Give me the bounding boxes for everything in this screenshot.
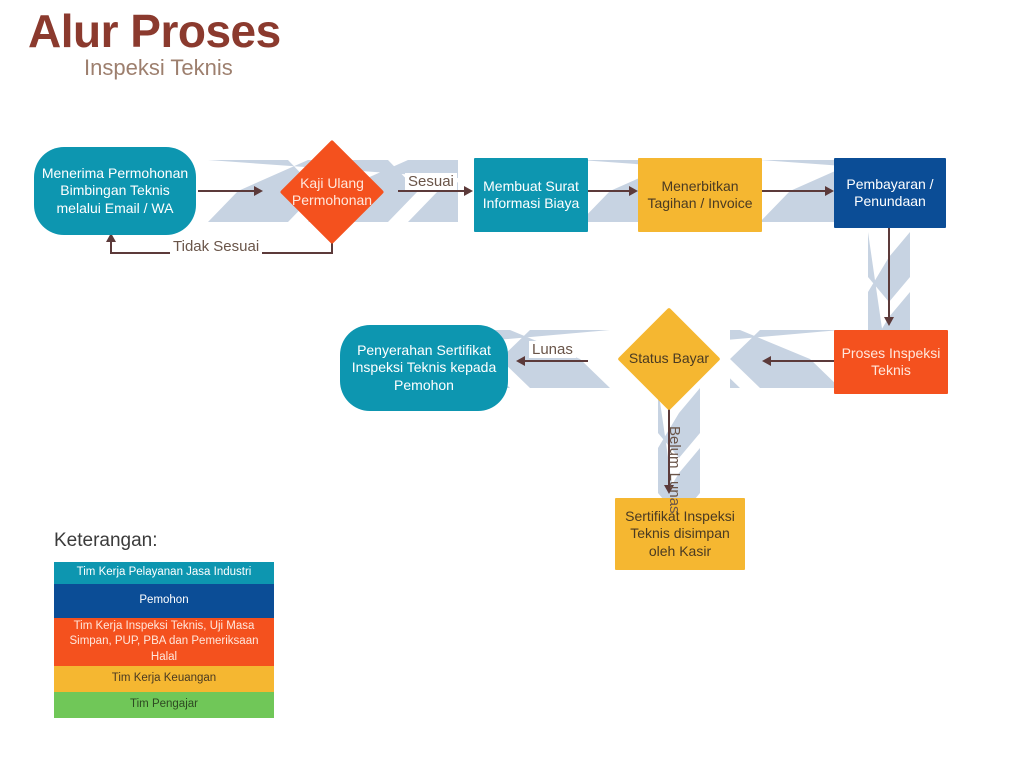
connector-n6-n7 xyxy=(768,360,834,362)
arrowhead-n6-n7 xyxy=(762,356,771,366)
legend-row-label: Tim Pengajar xyxy=(130,697,198,713)
legend: Keterangan: Tim Kerja Pelayanan Jasa Ind… xyxy=(54,530,274,718)
connector-n3-n4 xyxy=(588,190,632,192)
node-proses-inspeksi-teknis[interactable]: Proses Inspeksi Teknis xyxy=(834,330,948,394)
arrowhead-n2-n3 xyxy=(464,186,473,196)
edge-label-belum-lunas: Belum Lunas xyxy=(666,423,683,517)
legend-title: Keterangan: xyxy=(54,530,274,552)
node-label: Status Bayar xyxy=(587,350,751,367)
arrowhead-n3-n4 xyxy=(629,186,638,196)
legend-row-label: Tim Kerja Keuangan xyxy=(112,671,216,687)
node-label: Membuat Surat Informasi Biaya xyxy=(474,178,588,212)
connector-n5-n6 xyxy=(888,228,890,320)
legend-row-label: Pemohon xyxy=(139,593,188,609)
edge-label-sesuai: Sesuai xyxy=(405,173,457,190)
legend-row-label: Tim Kerja Inspeksi Teknis, Uji Masa Simp… xyxy=(58,619,270,666)
page-title: Alur Proses xyxy=(28,4,281,58)
edge-label-tidak-sesuai: Tidak Sesuai xyxy=(170,238,262,255)
arrowhead-n4-n5 xyxy=(825,186,834,196)
node-label: Kaji Ulang Permohonan xyxy=(258,175,406,209)
arrowhead-n7-n8 xyxy=(516,356,525,366)
connector-n1-n2 xyxy=(198,190,256,192)
node-menerima-permohonan[interactable]: Menerima Permohonan Bimbingan Teknis mel… xyxy=(34,147,196,235)
node-pembayaran-penundaan[interactable]: Pembayaran / Penundaan xyxy=(834,158,946,228)
legend-row: Tim Pengajar xyxy=(54,692,274,718)
node-label: Pembayaran / Penundaan xyxy=(834,176,946,210)
connector-n2-n3 xyxy=(398,190,468,192)
header: Alur Proses Inspeksi Teknis xyxy=(0,0,1024,100)
node-label: Menerima Permohonan Bimbingan Teknis mel… xyxy=(34,165,196,216)
node-label: Menerbitkan Tagihan / Invoice xyxy=(638,178,762,212)
node-kaji-ulang-permohonan[interactable]: Kaji Ulang Permohonan xyxy=(258,145,406,239)
node-membuat-surat-informasi-biaya[interactable]: Membuat Surat Informasi Biaya xyxy=(474,158,588,232)
legend-row: Tim Kerja Inspeksi Teknis, Uji Masa Simp… xyxy=(54,618,274,666)
legend-row: Pemohon xyxy=(54,584,274,618)
node-label: Proses Inspeksi Teknis xyxy=(834,345,948,379)
legend-row-label: Tim Kerja Pelayanan Jasa Industri xyxy=(77,565,252,581)
legend-row: Tim Kerja Keuangan xyxy=(54,666,274,692)
node-label: Penyerahan Sertifikat Inspeksi Teknis ke… xyxy=(340,342,508,393)
page-subtitle: Inspeksi Teknis xyxy=(84,55,233,81)
node-status-bayar[interactable]: Status Bayar xyxy=(587,312,751,406)
node-menerbitkan-tagihan-invoice[interactable]: Menerbitkan Tagihan / Invoice xyxy=(638,158,762,232)
arrowhead-n5-n6 xyxy=(884,317,894,326)
connector-n7-n8 xyxy=(524,360,588,362)
node-penyerahan-sertifikat[interactable]: Penyerahan Sertifikat Inspeksi Teknis ke… xyxy=(340,325,508,411)
legend-row: Tim Kerja Pelayanan Jasa Industri xyxy=(54,562,274,584)
edge-label-lunas: Lunas xyxy=(529,341,576,358)
connector-n4-n5 xyxy=(762,190,828,192)
connector-feedback-up xyxy=(110,240,112,254)
